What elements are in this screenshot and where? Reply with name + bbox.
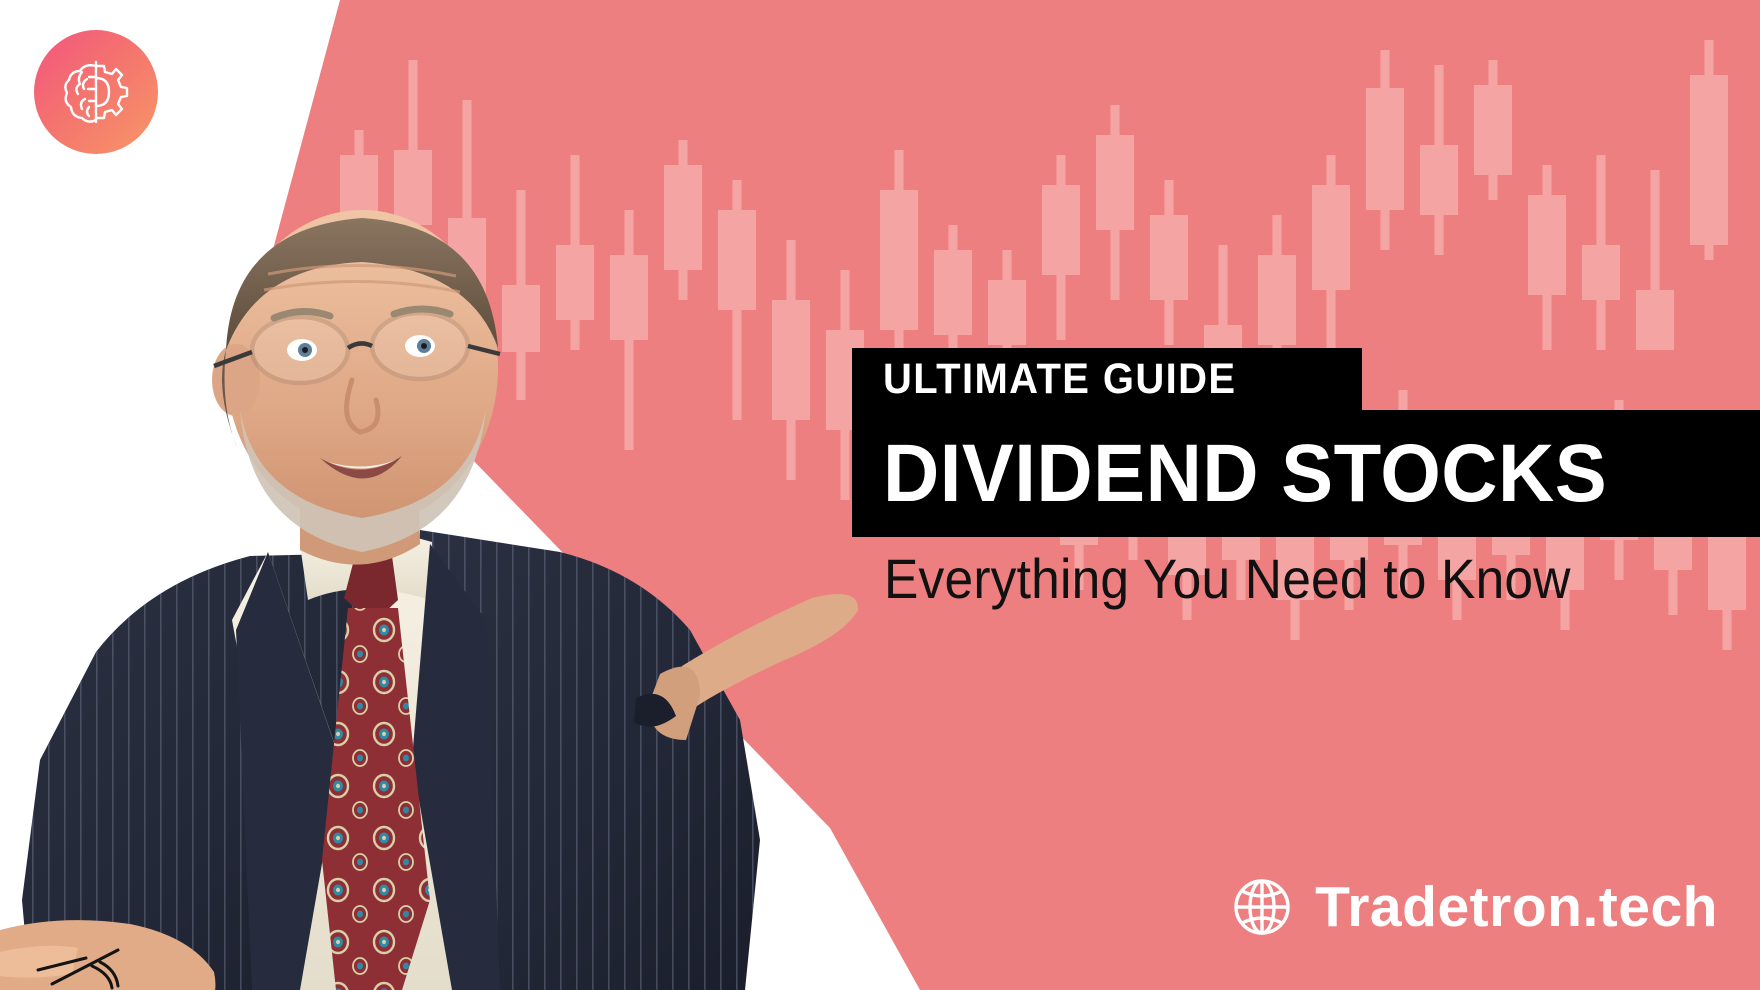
kicker-banner: ULTIMATE GUIDE (852, 348, 1362, 410)
brand-name: Tradetron.tech (1315, 879, 1718, 936)
kicker-text: ULTIMATE GUIDE (883, 358, 1237, 401)
banner-canvas: ULTIMATE GUIDE DIVIDEND STOCKS Everythin… (0, 0, 1760, 990)
globe-icon (1231, 876, 1293, 938)
subtitle-text: Everything You Need to Know (884, 548, 1571, 610)
brain-gear-icon (59, 55, 133, 129)
brand-lockup[interactable]: Tradetron.tech (1231, 876, 1718, 938)
main-title: DIVIDEND STOCKS (883, 433, 1607, 515)
brain-gear-logo-badge[interactable] (34, 30, 158, 154)
title-banner: DIVIDEND STOCKS (852, 410, 1760, 537)
